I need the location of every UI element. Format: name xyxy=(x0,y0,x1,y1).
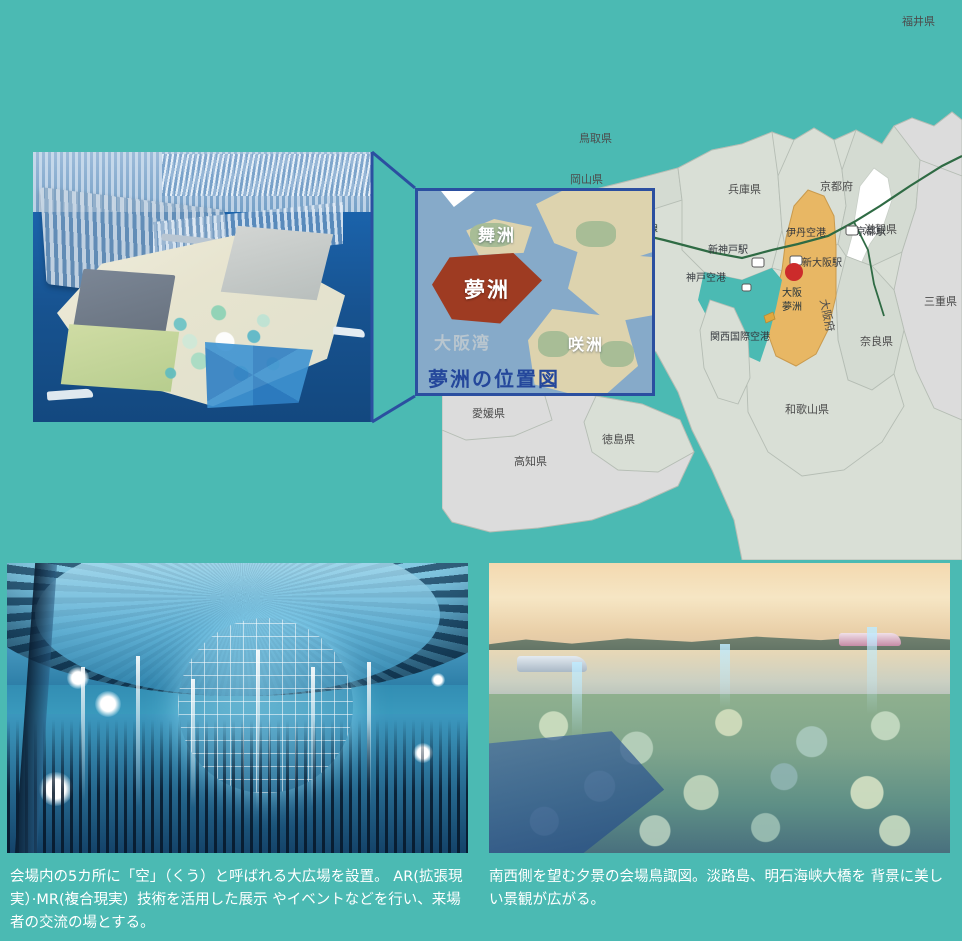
connector-top xyxy=(372,152,415,188)
plaza-orb-2 xyxy=(95,691,121,717)
inset-label-maishima: 舞洲 xyxy=(478,221,516,246)
label-mie: 三重県 xyxy=(924,294,957,308)
inset-yumeshima-label: 夢洲 xyxy=(464,274,510,304)
poster-root: 福井県 鳥取県 岡山県 兵庫県 京都府 滋賀県 三重県 奈良県 和歌山県 大阪府… xyxy=(0,0,962,941)
aerial-site-water-plaza xyxy=(193,342,313,408)
sunset-light-beam-1 xyxy=(572,662,582,737)
label-nara: 奈良県 xyxy=(860,334,893,348)
aerial-site-north-block xyxy=(221,226,333,300)
label-okayama: 岡山県 xyxy=(570,173,603,186)
label-ehime: 愛媛県 xyxy=(472,406,505,420)
inset-map-title: 夢洲の位置図 xyxy=(428,363,560,392)
label-tottori: 鳥取県 xyxy=(579,131,612,145)
inset-green-south xyxy=(538,331,570,357)
aerial-photo-yumeshima xyxy=(33,152,372,422)
inset-green-southeast xyxy=(600,341,634,367)
label-kobe-airport: 神戸空港 xyxy=(686,271,726,284)
inset-green-north xyxy=(576,221,616,247)
connector-bottom xyxy=(372,396,415,422)
sunset-light-beam-2 xyxy=(720,644,730,708)
marker-yumeshima xyxy=(785,263,803,281)
aerial-far-city-2 xyxy=(162,154,372,196)
caption-left: 会場内の5カ所に「空」（くう）と呼ばれる大広場を設置。 AR(拡張現実）·MR(… xyxy=(10,866,470,935)
inset-label-sakishima: 咲洲 xyxy=(568,331,604,355)
label-hyogo: 兵庫県 xyxy=(728,182,761,196)
photo-expo-aerial-sunset xyxy=(489,563,950,853)
label-shin-osaka: 新大阪駅 xyxy=(802,256,842,269)
label-osaka-city: 大阪 xyxy=(782,286,802,299)
label-shin-kobe: 新神戸駅 xyxy=(708,243,748,256)
label-kyoto-station: 京都駅 xyxy=(856,225,886,238)
caption-right: 南西側を望む夕景の会場鳥諏図。淡路島、明石海峡大橋を 背景に美しい景観が広がる。 xyxy=(489,866,951,912)
label-wakayama: 和歌山県 xyxy=(785,402,829,416)
plaza-crowd xyxy=(7,720,468,853)
label-tokushima: 徳島県 xyxy=(602,432,635,446)
label-fukui: 福井県 xyxy=(902,14,935,28)
label-itami-airport: 伊丹空港 xyxy=(786,226,826,239)
label-kochi: 高知県 xyxy=(514,454,547,468)
airport-icon-kobe xyxy=(742,284,751,291)
label-kyoto: 京都府 xyxy=(820,179,853,193)
inset-label-osaka-bay: 大阪湾 xyxy=(434,329,491,354)
inset-map-yumeshima: 夢洲 舞洲 咲洲 大阪湾 夢洲の位置図 xyxy=(415,188,655,396)
label-yumeshima-city: 夢洲 xyxy=(782,300,802,313)
label-kansai-airport: 関西国際空港 xyxy=(710,330,770,343)
station-icon-shinkobe xyxy=(752,258,764,267)
sunset-light-beam-3 xyxy=(867,627,877,714)
photo-expo-plaza-night xyxy=(7,563,468,853)
